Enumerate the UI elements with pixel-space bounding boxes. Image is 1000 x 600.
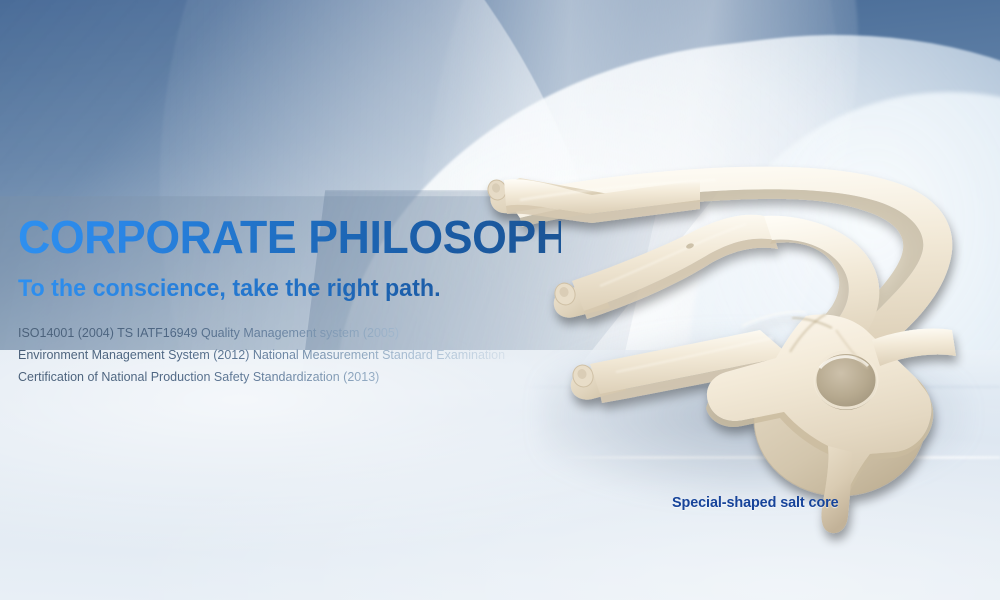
- page-title: CORPORATE PHILOSOPHY: [18, 214, 561, 260]
- product-caption: Special-shaped salt core: [672, 494, 839, 511]
- certification-line-3: Certification of National Production Saf…: [18, 366, 578, 388]
- page-subtitle: To the conscience, take the right path.: [18, 277, 561, 301]
- certification-list: ISO14001 (2004) TS IATF16949 Quality Man…: [18, 322, 578, 388]
- certification-line-2: Environment Management System (2012) Nat…: [18, 344, 578, 366]
- product-cast-shadow: [540, 330, 970, 500]
- corporate-philosophy-banner: CORPORATE PHILOSOPHY To the conscience, …: [0, 0, 1000, 600]
- headline-text-block: CORPORATE PHILOSOPHY To the conscience, …: [18, 214, 578, 388]
- certification-line-1: ISO14001 (2004) TS IATF16949 Quality Man…: [18, 322, 578, 344]
